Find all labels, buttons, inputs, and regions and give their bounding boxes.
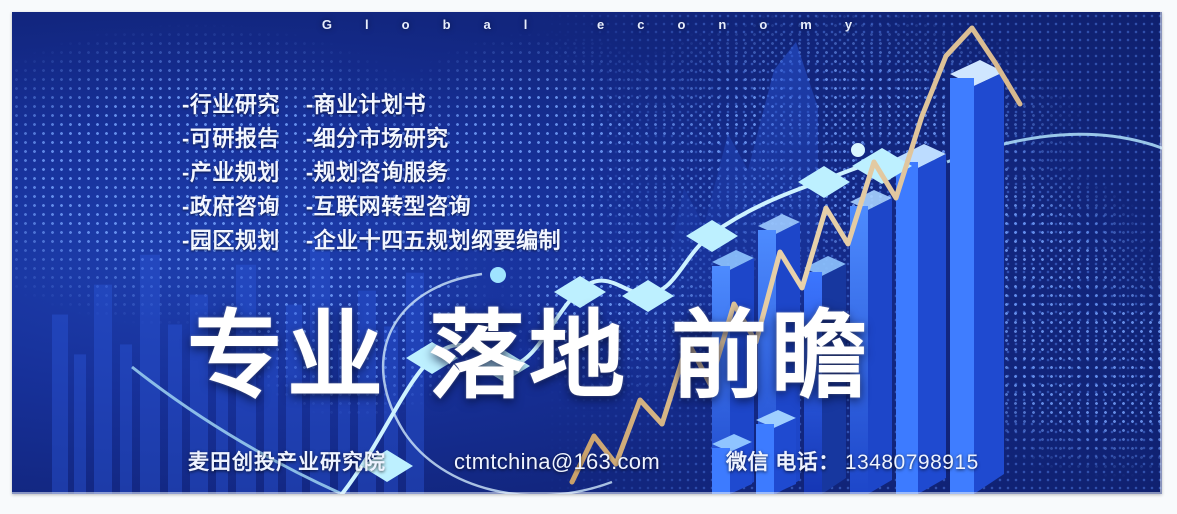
kicker-text: Global economy bbox=[12, 12, 1162, 40]
screenshot-canvas: Global economy -行业研究 -可研报告 -产业规划 -政府咨询 -… bbox=[0, 0, 1177, 514]
service-item: -产业规划 bbox=[182, 158, 280, 188]
footer-contact-row: 麦田创投产业研究院 ctmtchina@163.com 微信 电话： 13480… bbox=[188, 446, 979, 476]
service-item: -政府咨询 bbox=[182, 192, 280, 222]
services-left-column: -行业研究 -可研报告 -产业规划 -政府咨询 -园区规划 bbox=[182, 90, 280, 256]
service-item: -规划咨询服务 bbox=[306, 158, 586, 188]
service-item: -互联网转型咨询 bbox=[306, 192, 586, 222]
service-item: -商业计划书 bbox=[306, 90, 586, 120]
service-item: -细分市场研究 bbox=[306, 124, 586, 154]
service-item: -企业十四五规划纲要编制 bbox=[306, 226, 586, 256]
services-lists: -行业研究 -可研报告 -产业规划 -政府咨询 -园区规划 -商业计划书 -细分… bbox=[182, 90, 586, 256]
banner-panel: Global economy -行业研究 -可研报告 -产业规划 -政府咨询 -… bbox=[12, 12, 1162, 494]
service-item: -行业研究 bbox=[182, 90, 280, 120]
headline-part-3: 前瞻 bbox=[671, 303, 871, 410]
contact-label: 微信 电话： bbox=[726, 446, 840, 476]
orbit-node-dot bbox=[490, 267, 506, 283]
headline: 专业落地前瞻 bbox=[187, 309, 871, 405]
service-item: -园区规划 bbox=[182, 226, 280, 256]
email-address[interactable]: ctmtchina@163.com bbox=[454, 449, 660, 475]
phone-number: 13480798915 bbox=[845, 451, 979, 475]
service-item: -可研报告 bbox=[182, 124, 280, 154]
organization-name: 麦田创投产业研究院 bbox=[188, 446, 386, 476]
headline-part-1: 专业 bbox=[187, 303, 387, 410]
headline-part-2: 落地 bbox=[429, 303, 629, 410]
services-right-column: -商业计划书 -细分市场研究 -规划咨询服务 -互联网转型咨询 -企业十四五规划… bbox=[306, 90, 586, 256]
cyan-peak-dot bbox=[851, 143, 865, 157]
